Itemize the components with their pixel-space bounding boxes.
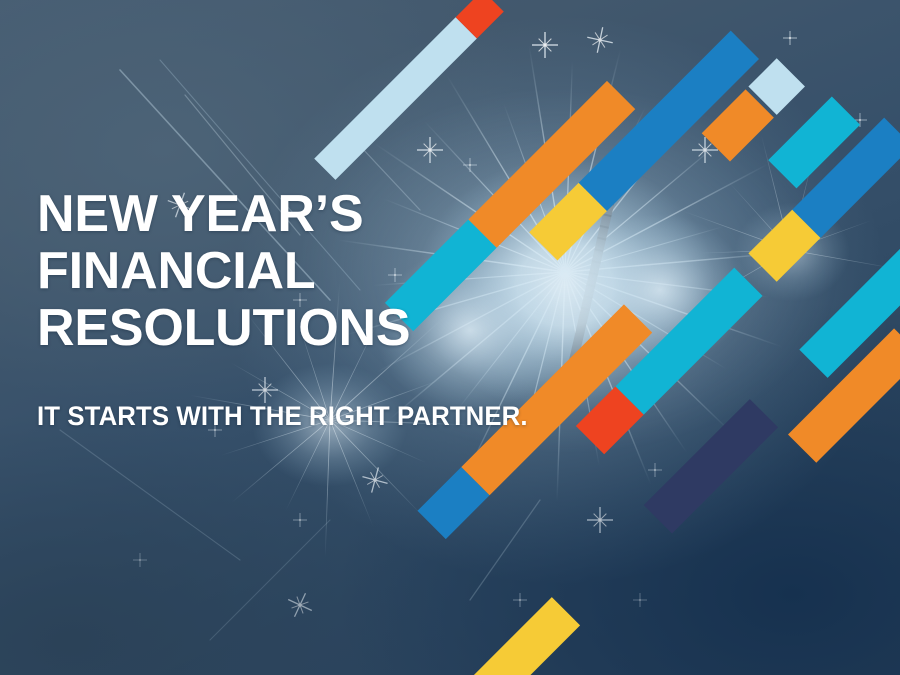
headline-line-3: RESOLUTIONS [37, 300, 717, 357]
promotional-banner: NEW YEAR’S FINANCIAL RESOLUTIONS IT STAR… [0, 0, 900, 675]
page-title: NEW YEAR’S FINANCIAL RESOLUTIONS [37, 186, 717, 357]
headline-line-2: FINANCIAL [37, 243, 717, 300]
headline-block: NEW YEAR’S FINANCIAL RESOLUTIONS IT STAR… [37, 186, 717, 431]
bar-pale-blue [314, 0, 504, 180]
bar-yellow-bottom [468, 597, 580, 675]
headline-line-1: NEW YEAR’S [37, 186, 717, 243]
subheadline: IT STARTS WITH THE RIGHT PARTNER. [37, 401, 686, 431]
